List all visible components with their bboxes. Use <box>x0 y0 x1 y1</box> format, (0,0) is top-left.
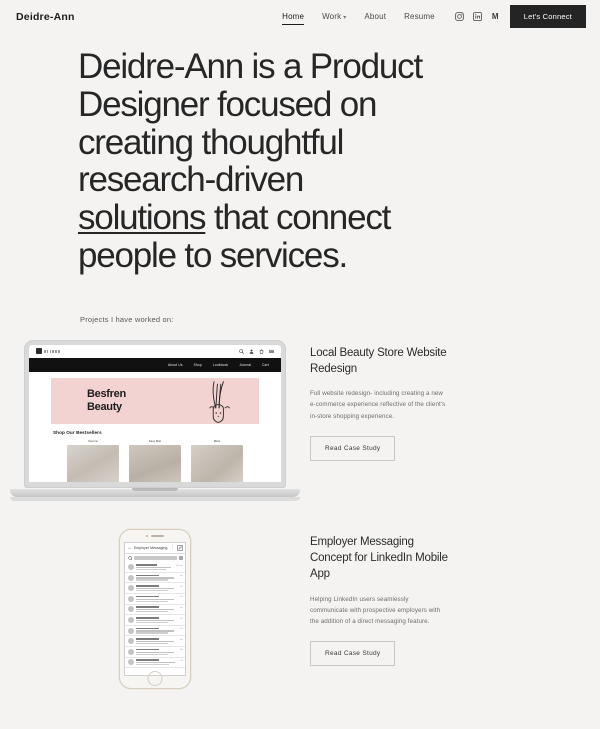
compose-icon[interactable] <box>177 545 183 551</box>
mockup-product-image <box>191 445 243 482</box>
portfolio-homepage: Deidre-Ann Home Work▾ About Resume <box>0 0 600 729</box>
site-header: Deidre-Ann Home Work▾ About Resume <box>0 0 600 33</box>
mockup-product-label: Mists <box>191 439 243 443</box>
nav-item-home-label: Home <box>282 12 304 21</box>
mockup-nav-item-1[interactable]: Shop <box>194 363 202 367</box>
laptop-mockup: About Us Shop Lookbook Journal Cart Besf… <box>24 340 286 501</box>
instagram-icon[interactable] <box>455 12 464 21</box>
project-2-info: Employer Messaging Concept for LinkedIn … <box>310 529 510 666</box>
bunny-illustration-icon <box>203 380 237 424</box>
nav-item-work-label: Work <box>322 12 341 21</box>
mockup-nav-item-2[interactable]: Lookbook <box>213 363 228 367</box>
search-icon <box>128 556 133 561</box>
avatar <box>128 564 134 570</box>
list-item[interactable]: 10h 1m <box>125 562 185 573</box>
project-card-local-beauty-store: About Us Shop Lookbook Journal Cart Besf… <box>0 340 600 501</box>
nav-item-about[interactable]: About <box>355 12 395 21</box>
avatar <box>128 585 134 591</box>
avatar <box>128 659 134 665</box>
mockup-hero-text: Besfren Beauty <box>87 388 126 413</box>
hero-line-6: people to services. <box>78 236 347 275</box>
overflow-menu-icon[interactable]: ⋮ <box>171 546 175 550</box>
mockup-product-label: Serums <box>67 439 119 443</box>
hero-section: Deidre-Ann is a Product Designer focused… <box>0 33 600 275</box>
messaging-title: Employer Messaging <box>134 546 169 550</box>
mockup-section-title: Shop Our Bestsellers <box>53 430 281 435</box>
project-1-info: Local Beauty Store Website Redesign Full… <box>310 340 510 461</box>
phone-camera-speaker <box>146 535 164 537</box>
list-item[interactable]: 1hr <box>125 605 185 616</box>
hero-line-4: research-driven <box>78 160 303 199</box>
list-item-meta: 1hr <box>180 575 183 578</box>
avatar <box>128 606 134 612</box>
project-title: Local Beauty Store Website Redesign <box>310 345 450 378</box>
linkedin-icon[interactable] <box>473 12 482 21</box>
social-links: M <box>455 12 500 21</box>
phone-camera-icon <box>146 535 148 537</box>
primary-nav: Home Work▾ About Resume M Let's Connect <box>273 5 586 28</box>
list-item[interactable]: 1hr <box>125 647 185 658</box>
phone-speaker-icon <box>151 535 164 537</box>
messaging-search-row[interactable] <box>125 554 185 563</box>
nav-item-work[interactable]: Work▾ <box>313 12 355 21</box>
page-title: Deidre-Ann is a Product Designer focused… <box>78 48 508 275</box>
avatar <box>128 575 134 581</box>
list-item-meta: 1hr <box>180 596 183 599</box>
list-item-meta: 10h 1m <box>176 564 182 567</box>
mockup-site-nav: About Us Shop Lookbook Journal Cart <box>29 358 281 372</box>
mockup-product-image <box>129 445 181 482</box>
project-1-visual: About Us Shop Lookbook Journal Cart Besf… <box>0 340 310 501</box>
mockup-nav-item-0[interactable]: About Us <box>168 363 183 367</box>
mockup-hero-line-1: Besfren <box>87 388 126 400</box>
back-arrow-icon[interactable]: ← <box>128 546 133 551</box>
mockup-logo-mark <box>36 348 42 354</box>
search-input[interactable] <box>134 556 177 561</box>
mockup-product-image <box>67 445 119 482</box>
mockup-hero-line-2: Beauty <box>87 401 122 413</box>
nav-item-resume-label: Resume <box>404 12 435 21</box>
project-description: Helping LinkedIn users seamlessly commun… <box>310 594 446 627</box>
filter-icon[interactable] <box>179 556 183 560</box>
hero-line-1: Deidre-Ann is a Product <box>78 47 422 86</box>
user-icon <box>249 349 254 354</box>
nav-item-resume[interactable]: Resume <box>395 12 444 21</box>
mockup-product-card[interactable]: Mists <box>191 439 243 482</box>
list-item[interactable]: 1hr <box>125 583 185 594</box>
mockup-hero-banner: Besfren Beauty <box>51 378 259 424</box>
read-case-study-button[interactable]: Read Case Study <box>310 641 395 666</box>
list-item-meta: 1hr <box>180 628 183 631</box>
mockup-product-row: Serums Face Mist Mists <box>29 439 281 482</box>
list-item[interactable]: 1hr <box>125 573 185 584</box>
list-item-meta: 1hr <box>180 649 183 652</box>
list-item[interactable]: 1hr <box>125 636 185 647</box>
bag-icon <box>259 349 264 354</box>
avatar <box>128 628 134 634</box>
mockup-nav-item-3[interactable]: Journal <box>239 363 251 367</box>
avatar <box>128 596 134 602</box>
avatar <box>128 617 134 623</box>
avatar <box>128 638 134 644</box>
mockup-site-topbar <box>29 345 281 358</box>
mockup-product-card[interactable]: Face Mist <box>129 439 181 482</box>
laptop-lid: About Us Shop Lookbook Journal Cart Besf… <box>24 340 286 488</box>
nav-item-home[interactable]: Home <box>273 12 313 21</box>
menu-icon <box>269 349 274 354</box>
avatar <box>128 649 134 655</box>
laptop-screen: About Us Shop Lookbook Journal Cart Besf… <box>29 345 281 482</box>
list-item[interactable]: 1hr <box>125 594 185 605</box>
phone-screen: ← Employer Messaging ⋮ 10h 1m 1hr 1hr <box>124 542 186 676</box>
list-item[interactable]: 2d <box>125 658 185 669</box>
list-item-meta: 1hr <box>180 617 183 620</box>
project-description: Full website redesign- including creatin… <box>310 388 446 421</box>
list-item-meta: 1hr <box>180 638 183 641</box>
hero-line-2: Designer focused on <box>78 85 376 124</box>
read-case-study-button[interactable]: Read Case Study <box>310 436 395 461</box>
mockup-site-logo <box>36 348 60 354</box>
mockup-product-card[interactable]: Serums <box>67 439 119 482</box>
home-button[interactable] <box>148 671 163 686</box>
hero-underlined-word: solutions <box>78 198 205 237</box>
hero-line-3: creating thoughtful <box>78 123 343 162</box>
project-2-visual: ← Employer Messaging ⋮ 10h 1m 1hr 1hr <box>0 529 310 689</box>
mockup-site-icons <box>239 349 274 354</box>
mockup-product-label: Face Mist <box>129 439 181 443</box>
project-card-linkedin-messaging: ← Employer Messaging ⋮ 10h 1m 1hr 1hr <box>0 529 600 689</box>
medium-icon[interactable]: M <box>491 12 500 21</box>
brand-logo[interactable]: Deidre-Ann <box>16 11 75 23</box>
laptop-foot <box>10 497 300 501</box>
mockup-logo-wordmark <box>44 350 60 353</box>
list-item-meta: 2d <box>180 659 182 662</box>
list-item-meta: 1hr <box>180 585 183 588</box>
message-list[interactable]: 10h 1m 1hr 1hr 1hr 1hr 1hr 1hr 1hr 1hr 2… <box>125 562 185 675</box>
mockup-nav-item-4[interactable]: Cart <box>262 363 269 367</box>
phone-mockup: ← Employer Messaging ⋮ 10h 1m 1hr 1hr <box>119 529 191 689</box>
hero-line-5-rest: that connect <box>205 198 390 237</box>
chevron-down-icon: ▾ <box>343 15 346 21</box>
projects-label: Projects I have worked on: <box>0 275 600 324</box>
project-title: Employer Messaging Concept for LinkedIn … <box>310 534 450 583</box>
list-item[interactable]: 1hr <box>125 615 185 626</box>
laptop-base <box>10 488 300 497</box>
list-item-meta: 1hr <box>180 606 183 609</box>
search-icon <box>239 349 244 354</box>
nav-item-about-label: About <box>364 12 386 21</box>
messaging-header: ← Employer Messaging ⋮ <box>125 543 185 554</box>
list-item[interactable]: 1hr <box>125 626 185 637</box>
lets-connect-button[interactable]: Let's Connect <box>510 5 586 28</box>
